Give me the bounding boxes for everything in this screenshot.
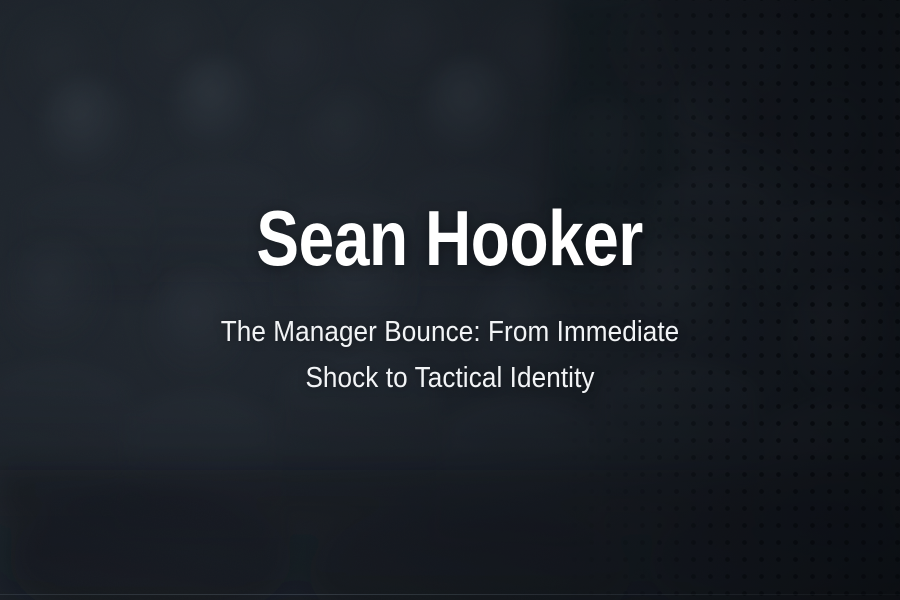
- title-card-content: Sean Hooker The Manager Bounce: From Imm…: [0, 0, 900, 600]
- episode-title-card: Sean Hooker The Manager Bounce: From Imm…: [0, 0, 900, 600]
- episode-subtitle: The Manager Bounce: From Immediate Shock…: [198, 309, 702, 401]
- page-title: Sean Hooker: [257, 199, 644, 279]
